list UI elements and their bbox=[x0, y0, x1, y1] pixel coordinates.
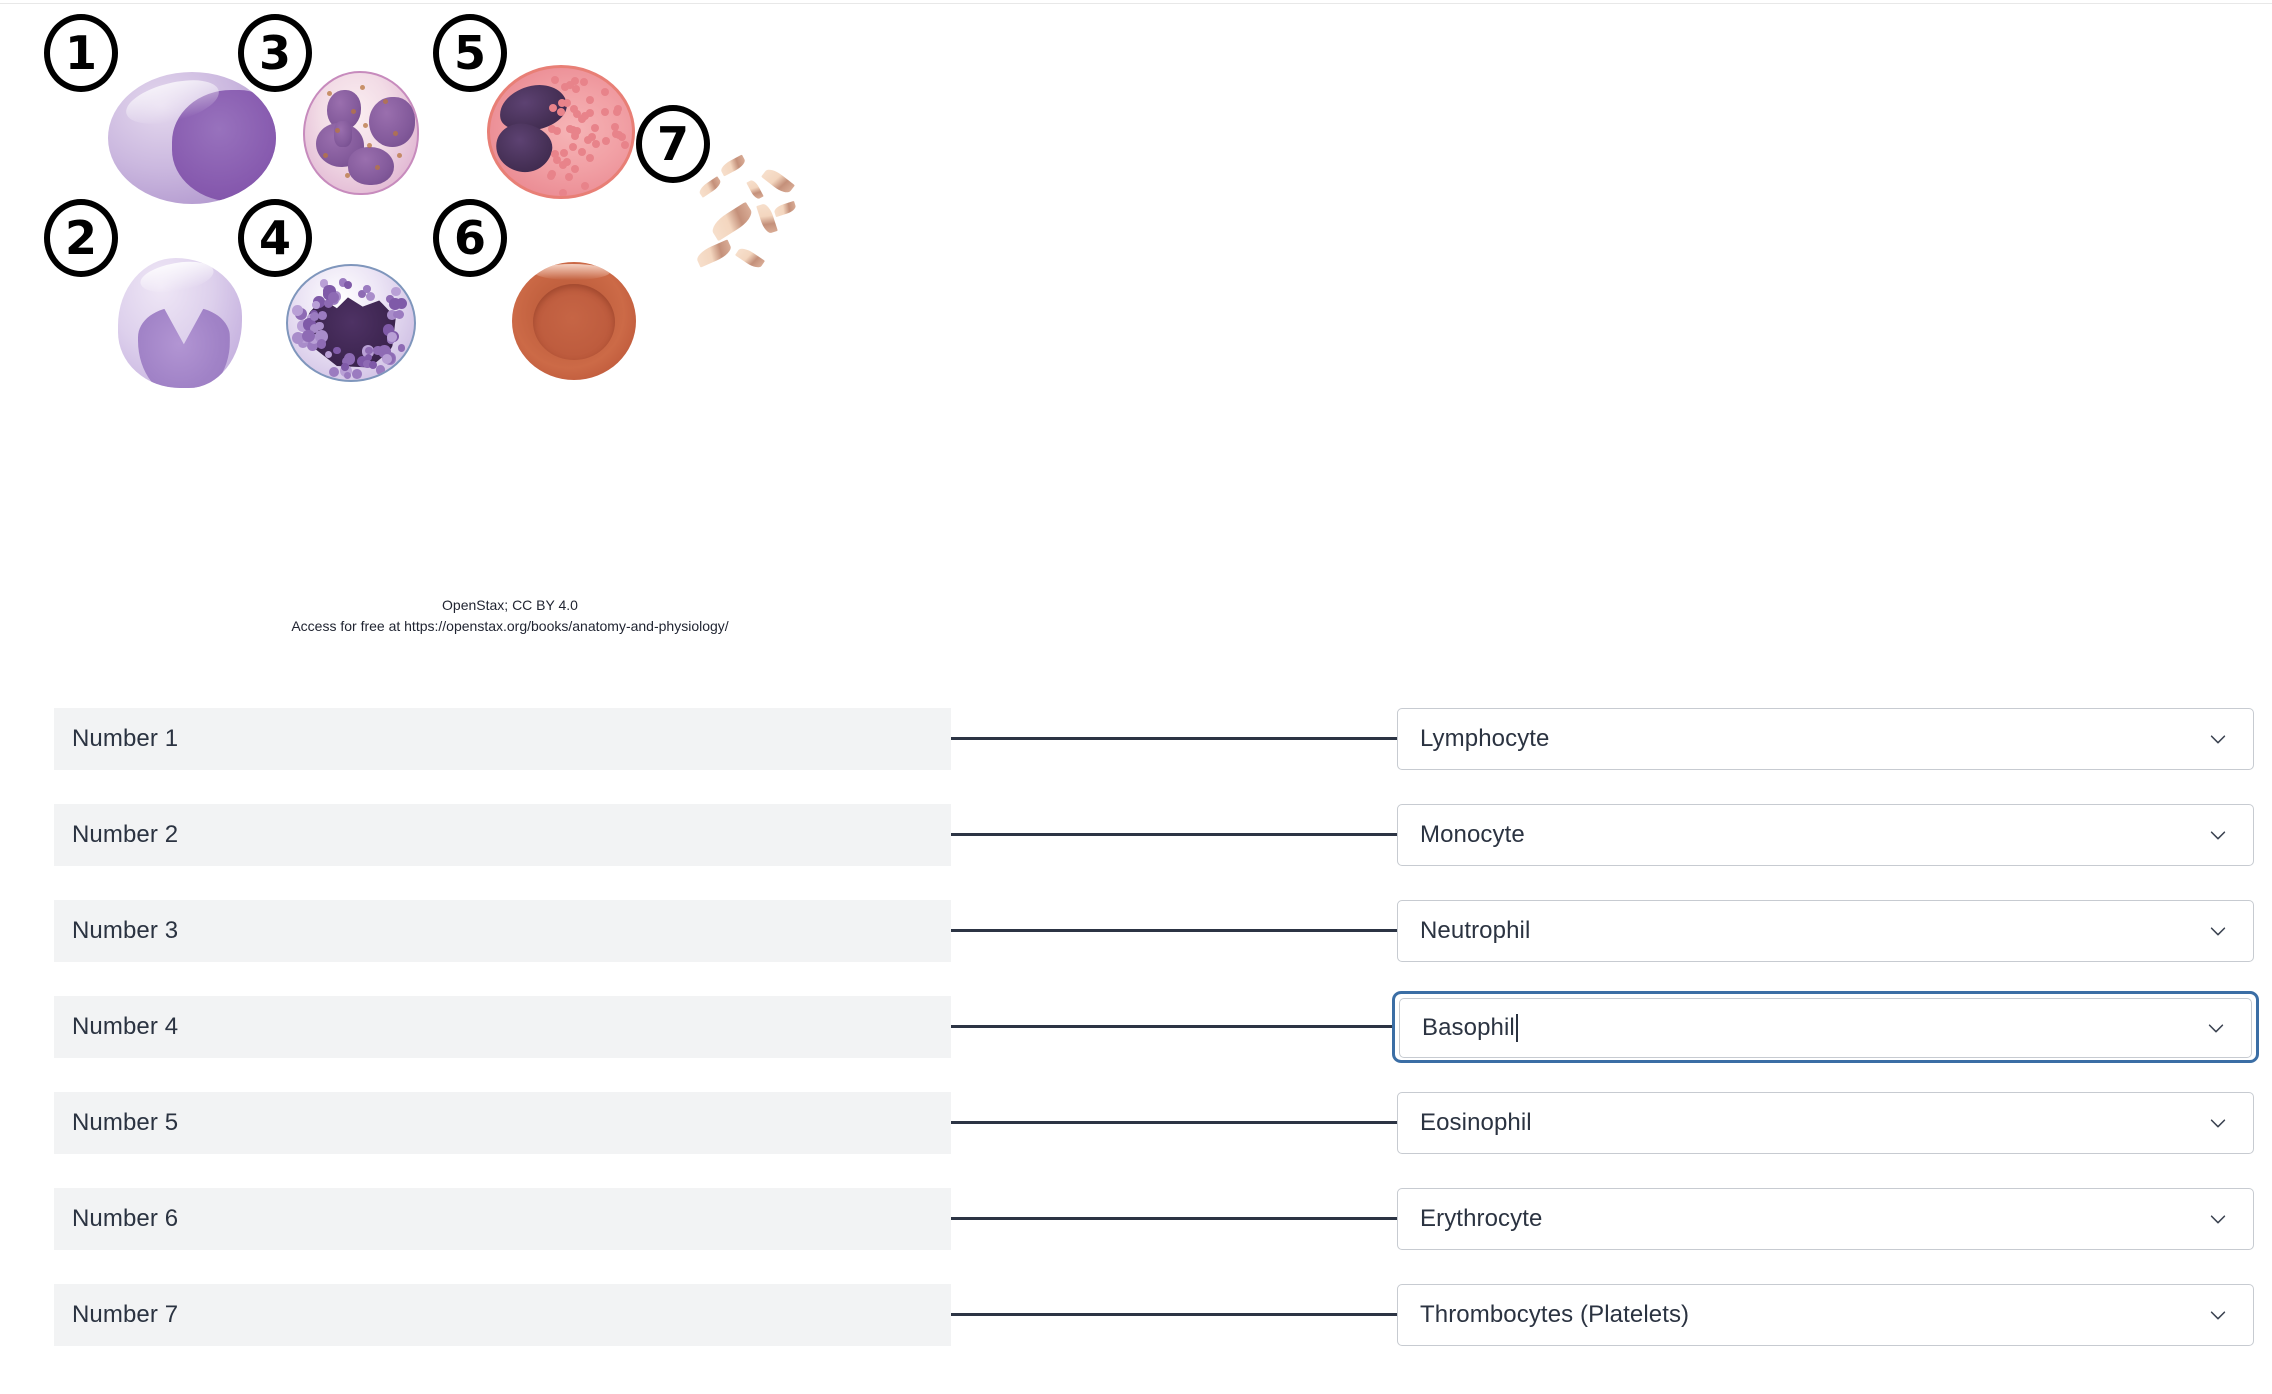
quiz-page: 1 2 3 4 5 6 7 bbox=[0, 0, 2272, 1394]
matching-row: Number 2Monocyte bbox=[0, 796, 2272, 892]
chevron-down-icon[interactable] bbox=[2207, 920, 2229, 942]
connector-line bbox=[951, 1025, 1397, 1028]
matching-row: Number 4Basophil bbox=[0, 988, 2272, 1084]
answer-select-7[interactable]: Thrombocytes (Platelets) bbox=[1397, 1284, 2254, 1346]
badge-number-6: 6 bbox=[433, 199, 507, 277]
answer-value: Erythrocyte bbox=[1420, 1205, 1542, 1233]
attribution-line-1: OpenStax; CC BY 4.0 bbox=[0, 595, 1020, 616]
matching-row: Number 7Thrombocytes (Platelets) bbox=[0, 1276, 2272, 1372]
badge-number-1: 1 bbox=[44, 14, 118, 92]
chevron-down-icon[interactable] bbox=[2207, 1304, 2229, 1326]
badge-number-4: 4 bbox=[238, 199, 312, 277]
connector-line bbox=[951, 737, 1397, 740]
matching-row: Number 6Erythrocyte bbox=[0, 1180, 2272, 1276]
connector-line bbox=[951, 1313, 1397, 1316]
answer-select-6[interactable]: Erythrocyte bbox=[1397, 1188, 2254, 1250]
answer-select-1[interactable]: Lymphocyte bbox=[1397, 708, 2254, 770]
answer-value: Lymphocyte bbox=[1420, 725, 1550, 753]
badge-number-7: 7 bbox=[636, 105, 710, 183]
answer-value: Eosinophil bbox=[1420, 1109, 1532, 1137]
neutrophil-cell bbox=[303, 71, 419, 195]
prompt-box-3: Number 3 bbox=[54, 900, 951, 962]
answer-value: Monocyte bbox=[1420, 821, 1525, 849]
answer-select-4[interactable]: Basophil bbox=[1392, 991, 2259, 1063]
prompt-label: Number 4 bbox=[72, 1013, 178, 1041]
prompt-label: Number 5 bbox=[72, 1109, 178, 1137]
blood-cell-figure: 1 2 3 4 5 6 7 bbox=[0, 0, 1160, 660]
platelets-cluster bbox=[690, 160, 790, 270]
answer-select-3[interactable]: Neutrophil bbox=[1397, 900, 2254, 962]
prompt-box-6: Number 6 bbox=[54, 1188, 951, 1250]
prompt-box-2: Number 2 bbox=[54, 804, 951, 866]
monocyte-cell bbox=[118, 258, 242, 388]
answer-value: Basophil bbox=[1422, 1014, 1515, 1042]
chevron-down-icon[interactable] bbox=[2205, 1017, 2227, 1039]
prompt-box-5: Number 5 bbox=[54, 1092, 951, 1154]
basophil-cell bbox=[286, 264, 416, 382]
prompt-box-7: Number 7 bbox=[54, 1284, 951, 1346]
connector-line bbox=[951, 833, 1397, 836]
prompt-label: Number 2 bbox=[72, 821, 178, 849]
answer-value: Thrombocytes (Platelets) bbox=[1420, 1301, 1689, 1329]
badge-number-5: 5 bbox=[433, 14, 507, 92]
text-caret bbox=[1516, 1014, 1518, 1042]
chevron-down-icon[interactable] bbox=[2207, 728, 2229, 750]
matching-row: Number 1Lymphocyte bbox=[0, 700, 2272, 796]
connector-line bbox=[951, 929, 1397, 932]
chevron-down-icon[interactable] bbox=[2207, 1112, 2229, 1134]
chevron-down-icon[interactable] bbox=[2207, 1208, 2229, 1230]
answer-select-5[interactable]: Eosinophil bbox=[1397, 1092, 2254, 1154]
answer-select-2[interactable]: Monocyte bbox=[1397, 804, 2254, 866]
prompt-label: Number 3 bbox=[72, 917, 178, 945]
answer-value: Neutrophil bbox=[1420, 917, 1530, 945]
matching-row: Number 5Eosinophil bbox=[0, 1084, 2272, 1180]
attribution-line-2: Access for free at https://openstax.org/… bbox=[0, 616, 1020, 637]
matching-rows: Number 1LymphocyteNumber 2MonocyteNumber… bbox=[0, 700, 2272, 1372]
chevron-down-icon[interactable] bbox=[2207, 824, 2229, 846]
lymphocyte-cell bbox=[108, 72, 276, 204]
badge-number-3: 3 bbox=[238, 14, 312, 92]
connector-line bbox=[951, 1217, 1397, 1220]
matching-row: Number 3Neutrophil bbox=[0, 892, 2272, 988]
prompt-label: Number 7 bbox=[72, 1301, 178, 1329]
prompt-box-4: Number 4 bbox=[54, 996, 951, 1058]
prompt-label: Number 1 bbox=[72, 725, 178, 753]
figure-attribution: OpenStax; CC BY 4.0 Access for free at h… bbox=[0, 595, 1020, 637]
prompt-label: Number 6 bbox=[72, 1205, 178, 1233]
erythrocyte-cell bbox=[512, 262, 636, 380]
prompt-box-1: Number 1 bbox=[54, 708, 951, 770]
connector-line bbox=[951, 1121, 1397, 1124]
badge-number-2: 2 bbox=[44, 199, 118, 277]
eosinophil-cell bbox=[487, 65, 635, 199]
